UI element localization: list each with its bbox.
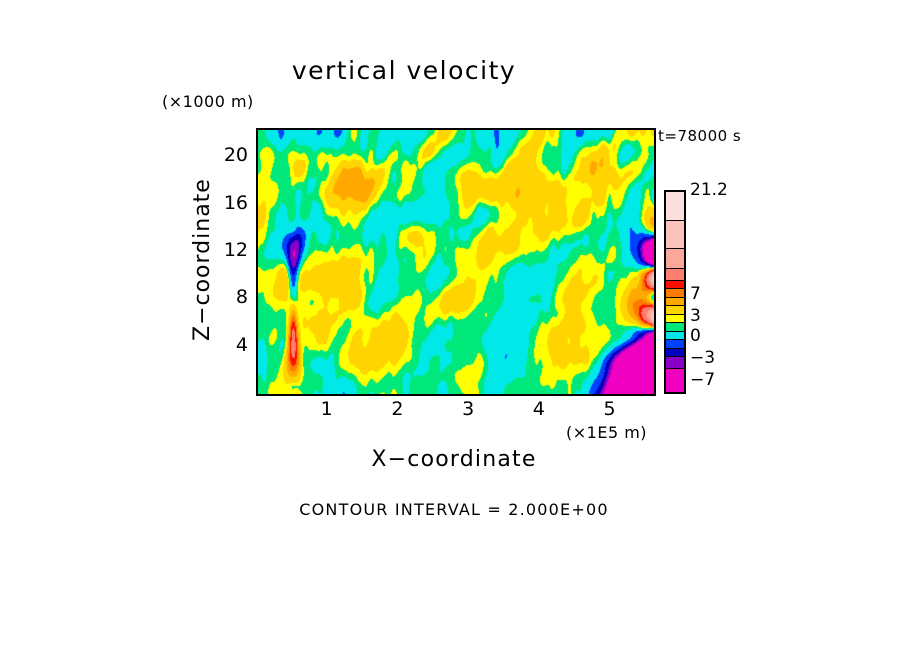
colorbar-band (666, 339, 684, 347)
colorbar-tick-label: 0 (690, 326, 701, 346)
colorbar-band (666, 331, 684, 339)
y-tick-label: 20 (224, 144, 248, 166)
x-tick-label: 3 (462, 398, 474, 420)
colorbar-band (666, 368, 684, 392)
contour-interval-note: CONTOUR INTERVAL = 2.000E+00 (256, 500, 652, 519)
colorbar-tick-label: −3 (690, 348, 715, 368)
y-tick-label: 12 (224, 239, 248, 261)
colorbar-band (666, 248, 684, 268)
x-axis-title: X−coordinate (256, 447, 652, 472)
y-axis-ticks: 48121620 (212, 128, 248, 392)
x-axis-unit-label: (×1E5 m) (566, 423, 647, 442)
colorbar-band (666, 322, 684, 330)
x-tick-label: 5 (604, 398, 616, 420)
contour-plot-area (256, 128, 656, 396)
colorbar-band (666, 192, 684, 220)
y-tick-label: 4 (236, 334, 248, 356)
page-title: vertical velocity (0, 56, 856, 85)
y-tick-label: 16 (224, 192, 248, 214)
colorbar-tick-label: −7 (690, 370, 715, 390)
colorbar-band (666, 305, 684, 313)
y-axis-unit-label: (×1000 m) (162, 92, 254, 111)
colorbar-band (666, 268, 684, 280)
colorbar-band (666, 314, 684, 322)
colorbar-tick-label: 7 (690, 284, 701, 304)
contour-field (258, 130, 654, 394)
colorbar-band (666, 220, 684, 249)
colorbar-tick-label: 21.2 (690, 180, 728, 200)
colorbar (664, 190, 686, 394)
x-tick-label: 4 (533, 398, 545, 420)
colorbar-tick-label: 3 (690, 306, 701, 326)
x-tick-label: 1 (321, 398, 333, 420)
time-annotation: t=78000 s (658, 127, 741, 145)
x-axis-ticks: 12345 (256, 398, 652, 426)
colorbar-labels: 21.2730−3−7 (690, 190, 750, 390)
colorbar-band (666, 297, 684, 305)
y-tick-label: 8 (236, 286, 248, 308)
x-tick-label: 2 (391, 398, 403, 420)
colorbar-band (666, 348, 684, 356)
colorbar-band (666, 356, 684, 368)
colorbar-band (666, 288, 684, 296)
colorbar-band (666, 280, 684, 288)
